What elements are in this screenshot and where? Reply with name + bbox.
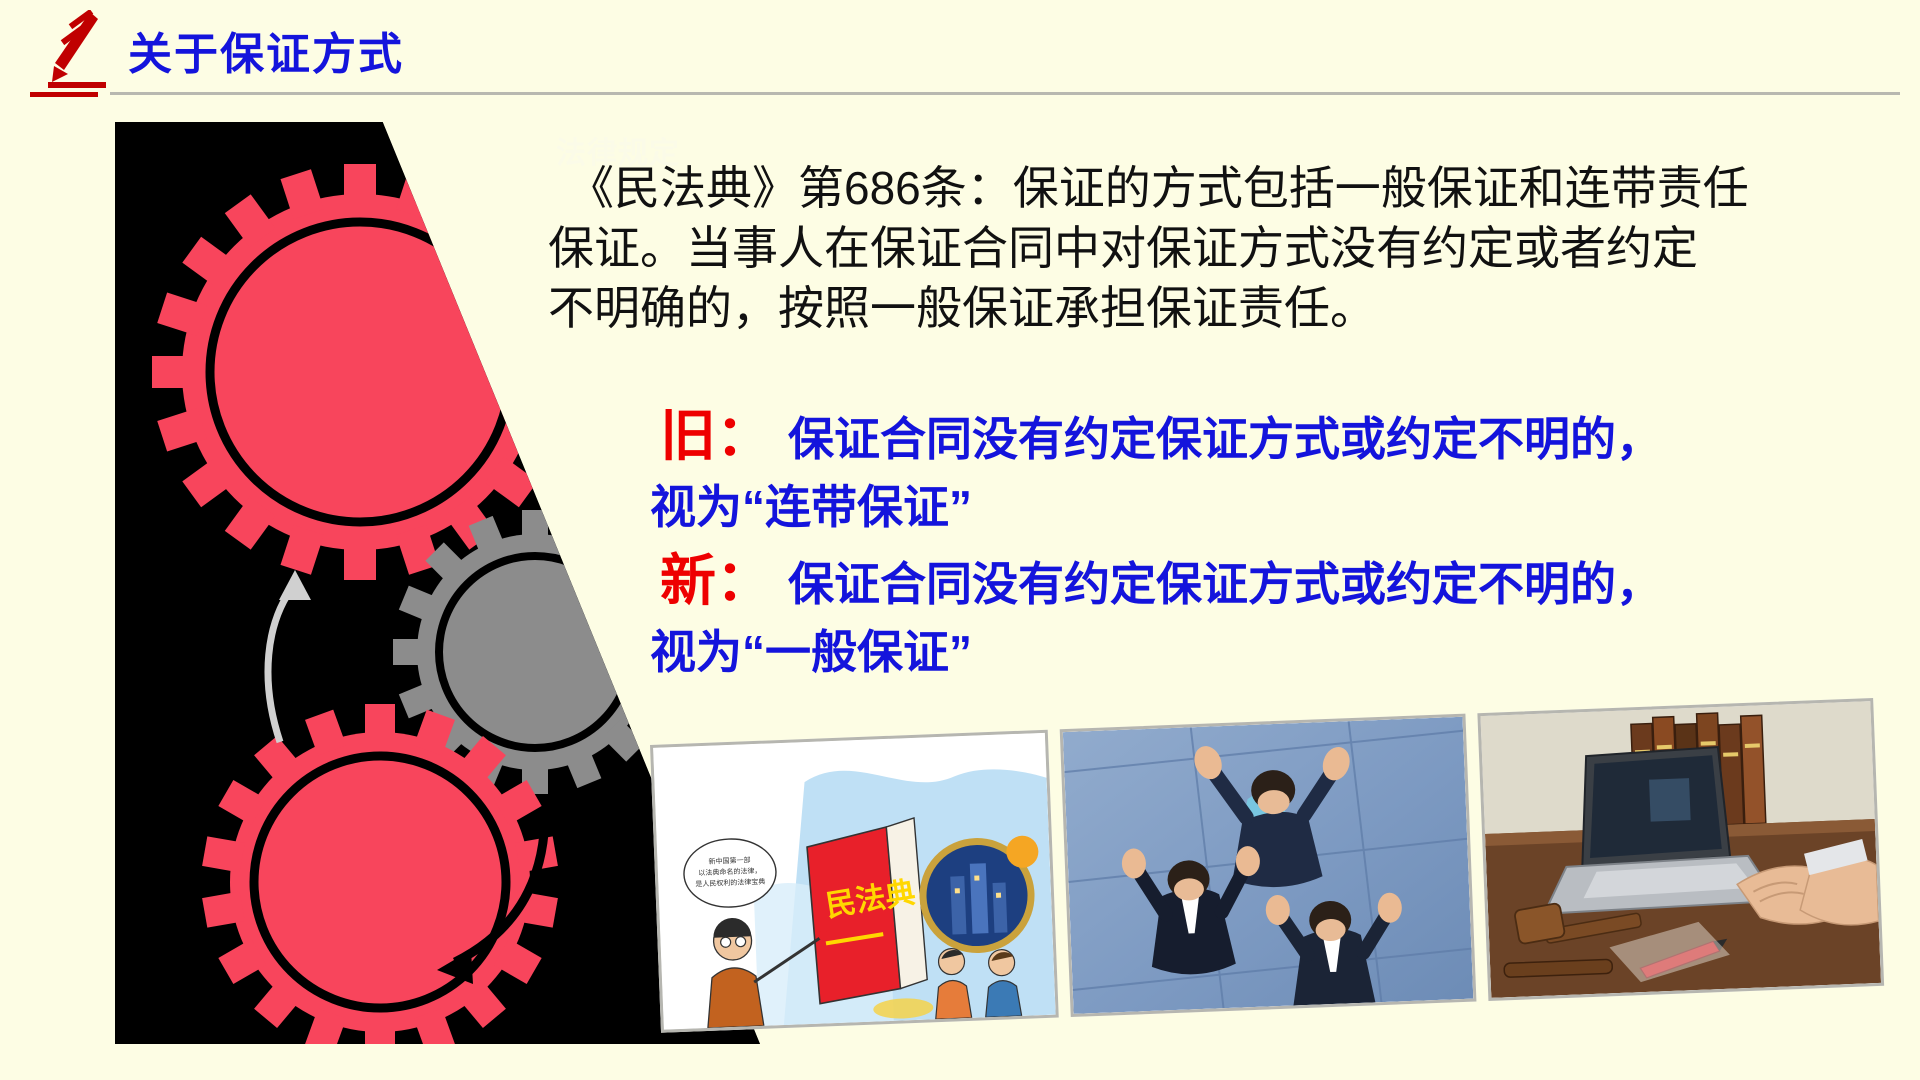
photo-strip: 新中国第一部 以法典命名的法律， 是人民权利的法律宝典 民法典: [650, 696, 1920, 1045]
comparison-old-text-1: 保证合同没有约定保证方式或约定不明的，: [788, 413, 1662, 465]
comparison-new: 新：保证合同没有约定保证方式或约定不明的， 视为“一般保证”: [660, 545, 1920, 684]
page-title: 关于保证方式: [128, 18, 404, 82]
comparison-new-tag: 新：: [660, 549, 772, 612]
civil-code-book: 民法典: [806, 818, 928, 1004]
comparison-new-text-1: 保证合同没有约定保证方式或约定不明的，: [788, 558, 1662, 610]
slide-header: 关于保证方式: [0, 0, 1920, 100]
comparison-old-line-2: 视为“连带保证”: [650, 475, 1920, 539]
title-rule-accent: [30, 92, 98, 97]
photo-businessmen-looking-up: [1060, 714, 1477, 1017]
slide-canvas: 关于保证方式: [0, 0, 1920, 1080]
comparison-new-line-2: 视为“一般保证”: [650, 620, 1920, 684]
comparison-block: 旧：保证合同没有约定保证方式或约定不明的， 视为“连带保证” 新：保证合同没有约…: [660, 400, 1920, 690]
photo-civil-code-cartoon: 新中国第一部 以法典命名的法律， 是人民权利的法律宝典 民法典: [650, 730, 1059, 1033]
body-line-2: 保证。当事人在保证合同中对保证方式没有约定或者约定: [548, 218, 1858, 278]
body-paragraph: 《民法典》第686条：保证的方式包括一般保证和连带责任 保证。当事人在保证合同中…: [548, 158, 1858, 338]
comparison-old-line-1: 旧：保证合同没有约定保证方式或约定不明的，: [660, 400, 1920, 475]
comparison-old-tag: 旧：: [660, 404, 772, 467]
body-line-3: 不明确的，按照一般保证承担保证责任。: [548, 278, 1858, 338]
pencil-icon: [38, 10, 108, 90]
body-line-1: 《民法典》第686条：保证的方式包括一般保证和连带责任: [548, 158, 1858, 218]
comparison-new-line-1: 新：保证合同没有约定保证方式或约定不明的，: [660, 545, 1920, 620]
title-rule: [110, 92, 1900, 95]
photo-gavel-laptop-lawbooks: [1477, 698, 1884, 1001]
comparison-old: 旧：保证合同没有约定保证方式或约定不明的， 视为“连带保证”: [660, 400, 1920, 539]
